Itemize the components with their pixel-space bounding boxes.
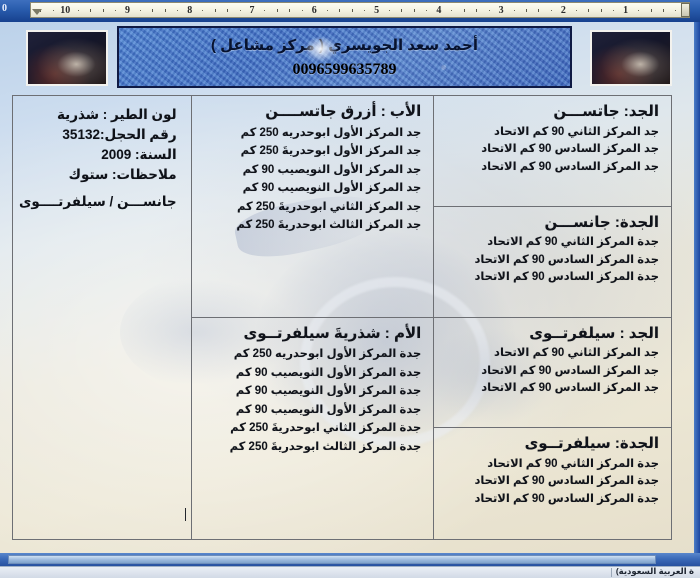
cell-line: جدة المركز الثاني 90 كم الاتحاد — [444, 456, 659, 470]
bird-info: لون الطير : شذرية رقم الحجل:35132 السنة:… — [13, 96, 191, 210]
ruler-minor-tick — [339, 9, 340, 12]
cell-line: جدة المركز الثاني 90 كم الاتحاد — [444, 234, 659, 248]
cell-line: جدة المركز السادس 90 كم الاتحاد — [444, 473, 659, 487]
document-header: أحمد سعد الجويسري ( مركز مشاعل ) 0096599… — [0, 22, 700, 94]
ruler-bar[interactable]: 0 10987654321 — [0, 0, 700, 22]
ruler-number: 9 — [125, 3, 130, 18]
ruler-minor-tick — [538, 9, 539, 12]
scrollbar-thumb[interactable] — [8, 555, 656, 564]
ruler-number: 8 — [187, 3, 192, 18]
ruler-minor-tick — [663, 9, 664, 12]
parents-column: الأب : أزرق جاتســــن جد المركز الأول اب… — [191, 96, 434, 539]
horizontal-scrollbar[interactable] — [0, 553, 700, 566]
bird-strain: جانســـن / سيلفرتــــوى — [19, 194, 177, 210]
ruler-dot-tick — [638, 10, 639, 11]
cell-line: جد المركز السادس 90 كم الاتحاد — [444, 363, 659, 377]
cell-line: جد المركز الأول ابوحدريةَ 250 كم — [202, 143, 422, 157]
ruler-dot-tick — [389, 10, 390, 11]
bird-year: السنة: 2009 — [19, 147, 177, 163]
ruler-dot-tick — [675, 10, 676, 11]
ruler-minor-tick — [464, 9, 465, 12]
ruler-dot-tick — [115, 10, 116, 11]
table-row-father: الأب : أزرق جاتســــن جد المركز الأول اب… — [192, 96, 434, 318]
ruler-number: 6 — [312, 3, 317, 18]
ruler-minor-tick — [90, 9, 91, 12]
ruler-dot-tick — [364, 10, 365, 11]
ruler-dot-tick — [576, 10, 577, 11]
cell-line: جد المركز السادس 90 كم الاتحاد — [444, 380, 659, 394]
ruler-dot-tick — [177, 10, 178, 11]
ruler-dot-tick — [489, 10, 490, 11]
ruler-dot-tick — [264, 10, 265, 11]
ruler-minor-tick — [103, 9, 104, 12]
cell-line: جدة المركز الثاني ابوحدريةَ 250 كم — [202, 420, 422, 434]
cell-line: جدة المركز السادس 90 كم الاتحاد — [444, 491, 659, 505]
ruler-dot-tick — [451, 10, 452, 11]
cell-title: الأم : شذريةَ سيلفرتــوى — [202, 324, 422, 342]
ruler-number: 10 — [60, 3, 70, 18]
cell-line: جد المركز السادس 90 كم الاتحاد — [444, 159, 659, 173]
ruler-dot-tick — [327, 10, 328, 11]
cell-line: جدة المركز الثالث ابوحدريةَ 250 كم — [202, 439, 422, 453]
text-cursor-caret — [185, 508, 186, 521]
ruler-number: 5 — [374, 3, 379, 18]
table-row-grandmother-maternal: الجدة: سيلفرتــوى جدة المركز الثاني 90 ك… — [434, 428, 671, 539]
ruler-left-indent-marker[interactable] — [32, 9, 42, 15]
ruler-minor-tick — [227, 9, 228, 12]
ruler-minor-tick — [152, 9, 153, 12]
cell-title: الجد: جاتســـن — [444, 102, 659, 120]
status-language-label[interactable]: ة العربية السعودية) — [616, 566, 694, 577]
ruler-minor-tick — [401, 9, 402, 12]
cell-line: جد المركز السادس 90 كم الاتحاد — [444, 141, 659, 155]
ruler-minor-tick — [601, 9, 602, 12]
ruler-number: 1 — [623, 3, 628, 18]
bird-color: لون الطير : شذرية — [19, 107, 177, 123]
ruler-minor-tick — [215, 9, 216, 12]
cell-line: جدة المركز الأول النويصيب 90 كم — [202, 402, 422, 416]
ruler-dot-tick — [78, 10, 79, 11]
cell-line: جد المركز الثاني 90 كم الاتحاد — [444, 345, 659, 359]
cell-line: جد المركز الثالث ابوحدريةَ 250 كم — [202, 217, 422, 231]
cell-line: جد المركز الأول النويصيب 90 كم — [202, 180, 422, 194]
ruler-number: 2 — [561, 3, 566, 18]
pedigree-table: الجد: جاتســـن جد المركز الثاني 90 كم ال… — [12, 95, 672, 540]
cell-line: جدة المركز السادس 90 كم الاتحاد — [444, 252, 659, 266]
ruler-dot-tick — [551, 10, 552, 11]
ruler-dot-tick — [302, 10, 303, 11]
bird-notes: ملاحظات: ستوك — [19, 167, 177, 183]
ruler-number: 3 — [499, 3, 504, 18]
cell-line: جدة المركز الأول ابوحدريه 250 كم — [202, 346, 422, 360]
ruler-minor-tick — [414, 9, 415, 12]
pigeon-photo-left[interactable] — [26, 30, 108, 86]
cell-title: الجدة: جانســـن — [444, 213, 659, 231]
cell-title: الجدة: سيلفرتــوى — [444, 434, 659, 452]
cell-line: جد المركز الأول النويصيب 90 كم — [202, 162, 422, 176]
ruler-minor-tick — [526, 9, 527, 12]
pigeon-photo-right[interactable] — [590, 30, 672, 86]
ruler-minor-tick — [352, 9, 353, 12]
ruler-minor-tick — [165, 9, 166, 12]
table-row-grandmother-paternal: الجدة: جانســـن جدة المركز الثاني 90 كم … — [434, 207, 671, 318]
ruler-right-indent-marker[interactable] — [681, 3, 690, 17]
document-page[interactable]: أحمد سعد الجويسري ( مركز مشاعل ) 0096599… — [0, 22, 700, 553]
owner-title-box[interactable]: أحمد سعد الجويسري ( مركز مشاعل ) 0096599… — [117, 26, 572, 88]
status-bar: ة العربية السعودية) — [0, 566, 700, 578]
bird-info-column: لون الطير : شذرية رقم الحجل:35132 السنة:… — [13, 96, 191, 539]
ruler-dot-tick — [53, 10, 54, 11]
status-divider — [611, 568, 612, 577]
table-row-grandfather-paternal: الجد: جاتســـن جد المركز الثاني 90 كم ال… — [434, 96, 671, 207]
ruler-dot-tick — [514, 10, 515, 11]
ruler-number: 4 — [436, 3, 441, 18]
ruler-dot-tick — [426, 10, 427, 11]
owner-name: أحمد سعد الجويسري ( مركز مشاعل ) — [119, 36, 570, 54]
ruler-dot-tick — [613, 10, 614, 11]
cell-line: جد المركز الثاني 90 كم الاتحاد — [444, 124, 659, 138]
ruler-dot-tick — [202, 10, 203, 11]
ruler-minor-tick — [476, 9, 477, 12]
ruler-minor-tick — [277, 9, 278, 12]
ruler-dot-tick — [240, 10, 241, 11]
cell-line: جد المركز الثاني ابوحدريةَ 250 كم — [202, 199, 422, 213]
ruler-minor-tick — [289, 9, 290, 12]
cell-line: جدة المركز السادس 90 كم الاتحاد — [444, 269, 659, 283]
ruler-minor-tick — [651, 9, 652, 12]
ruler-number: 7 — [250, 3, 255, 18]
window-right-edge — [694, 22, 700, 553]
ruler-minor-tick — [588, 9, 589, 12]
table-row-grandfather-maternal: الجد : سيلفرتــوى جد المركز الثاني 90 كم… — [434, 318, 671, 429]
cell-title: الأب : أزرق جاتســــن — [202, 102, 422, 120]
bird-ring-number: رقم الحجل:35132 — [19, 127, 177, 143]
cell-line: جدة المركز الأول النويصيب 90 كم — [202, 383, 422, 397]
grandparents-column: الجد: جاتســـن جد المركز الثاني 90 كم ال… — [433, 96, 671, 539]
cell-line: جد المركز الأول ابوحدريه 250 كم — [202, 125, 422, 139]
ruler-dot-tick — [140, 10, 141, 11]
ruler-track[interactable]: 10987654321 — [30, 2, 690, 18]
cell-line: جدة المركز الأول النويصيب 90 كم — [202, 365, 422, 379]
owner-phone: 0096599635789 — [119, 61, 570, 79]
table-row-mother: الأم : شذريةَ سيلفرتــوى جدة المركز الأو… — [192, 318, 434, 540]
cell-title: الجد : سيلفرتــوى — [444, 324, 659, 342]
ruler-zero-label: 0 — [2, 3, 7, 14]
